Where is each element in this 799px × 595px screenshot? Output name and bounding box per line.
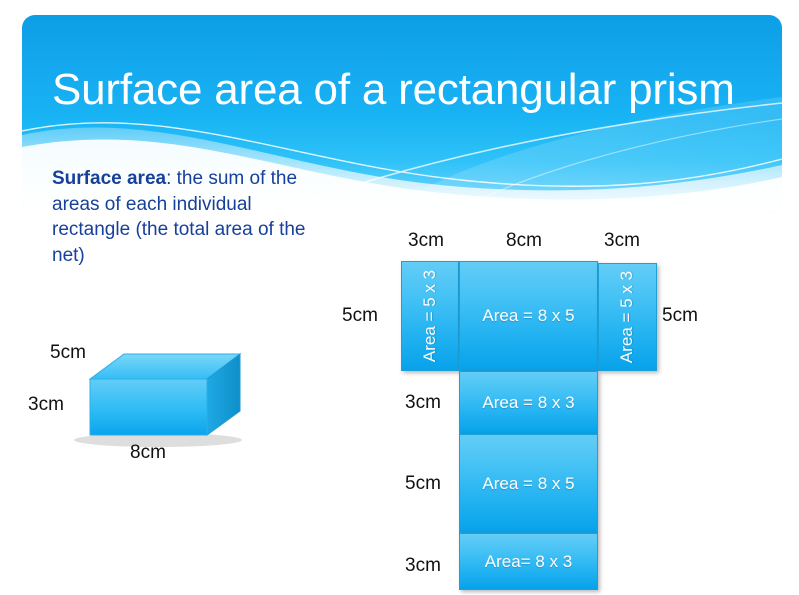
net-diagram: 3cm 8cm 3cm 5cm 5cm Area = 5 x 3 Area = … [330, 225, 750, 595]
net-face-left-flap-label: Area = 5 x 3 [420, 270, 440, 362]
net-row2-dim: 5cm [405, 473, 441, 495]
net-face-row3-label: Area= 8 x 3 [485, 552, 572, 572]
definition-text: Surface area: the sum of the areas of ea… [52, 166, 307, 268]
net-row3-dim: 3cm [405, 555, 441, 577]
net-top-dim-center: 8cm [506, 230, 542, 252]
page-title: Surface area of a rectangular prism [52, 63, 735, 117]
net-face-row2: Area = 8 x 5 [459, 434, 598, 533]
slide-canvas: Surface area of a rectangular prism Surf… [0, 0, 799, 595]
definition-term: Surface area [52, 168, 166, 189]
net-face-right-flap-label: Area = 5 x 3 [618, 271, 638, 363]
prism-depth-label: 5cm [50, 342, 86, 364]
net-face-center-top-label: Area = 8 x 5 [482, 306, 574, 326]
net-top-dim-left: 3cm [408, 230, 444, 252]
net-face-row1: Area = 8 x 3 [459, 371, 598, 434]
net-face-row1-label: Area = 8 x 3 [482, 393, 574, 413]
net-face-row3: Area= 8 x 3 [459, 533, 598, 590]
net-side-dim-right: 5cm [662, 305, 698, 327]
net-side-dim-left: 5cm [342, 305, 378, 327]
net-face-right-flap: Area = 5 x 3 [598, 263, 657, 371]
prism-height-label: 3cm [28, 394, 64, 416]
net-row1-dim: 3cm [405, 392, 441, 414]
rectangular-prism-figure: 5cm 3cm 8cm [28, 336, 296, 471]
net-top-dim-right: 3cm [604, 230, 640, 252]
net-face-center-top: Area = 8 x 5 [459, 261, 598, 371]
prism-width-label: 8cm [130, 442, 166, 464]
net-face-row2-label: Area = 8 x 5 [482, 474, 574, 494]
net-face-left-flap: Area = 5 x 3 [401, 261, 459, 371]
